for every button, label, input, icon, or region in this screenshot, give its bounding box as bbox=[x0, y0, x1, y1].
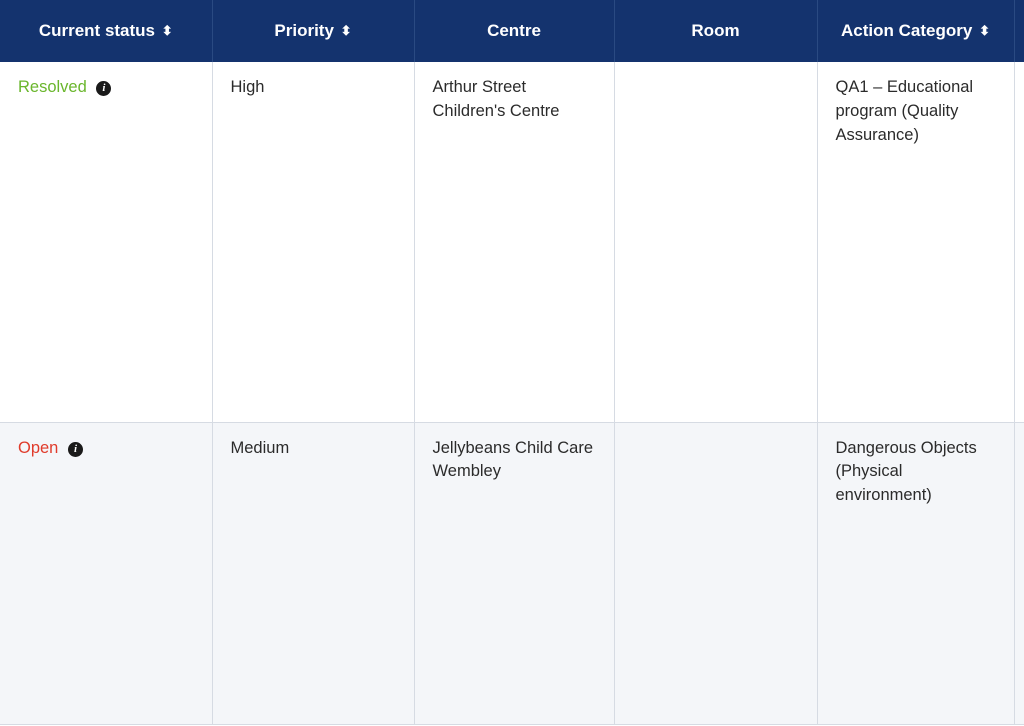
info-icon[interactable]: i bbox=[96, 81, 111, 96]
table-header-row: Current status ⬍ Priority ⬍ Centre Room … bbox=[0, 0, 1024, 62]
cell-current-status: Open i bbox=[0, 422, 212, 724]
status-badge: Resolved bbox=[18, 78, 87, 96]
cell-priority: Medium bbox=[212, 422, 414, 724]
cell-action-category: QA1 – Educational program (Quality Assur… bbox=[817, 62, 1014, 422]
sort-toggle-icon[interactable]: ⬍ bbox=[979, 24, 990, 37]
table-row[interactable]: Open i Medium Jellybeans Child Care Wemb… bbox=[0, 422, 1024, 724]
column-header-current-status[interactable]: Current status ⬍ bbox=[0, 0, 212, 62]
cell-action-category: Dangerous Objects (Physical environment) bbox=[817, 422, 1014, 724]
column-header-priority[interactable]: Priority ⬍ bbox=[212, 0, 414, 62]
cell-room bbox=[614, 62, 817, 422]
priority-value: High bbox=[231, 76, 398, 100]
incidents-table-container: Current status ⬍ Priority ⬍ Centre Room … bbox=[0, 0, 1024, 726]
action-category-value: QA1 – Educational program (Quality Assur… bbox=[836, 76, 998, 148]
sort-toggle-icon[interactable]: ⬍ bbox=[341, 24, 352, 37]
action-category-value: Dangerous Objects (Physical environment) bbox=[836, 437, 998, 509]
column-header-label-priority: Priority bbox=[274, 21, 334, 40]
table-row[interactable]: Resolved i High Arthur Street Children's… bbox=[0, 62, 1024, 422]
status-badge: Open bbox=[18, 439, 58, 457]
cell-centre: Arthur Street Children's Centre bbox=[414, 62, 614, 422]
priority-value: Medium bbox=[231, 437, 398, 461]
centre-value: Arthur Street Children's Centre bbox=[433, 76, 598, 124]
cell-centre: Jellybeans Child Care Wembley bbox=[414, 422, 614, 724]
cell-spacer bbox=[1014, 62, 1024, 422]
sort-toggle-icon[interactable]: ⬍ bbox=[162, 24, 173, 37]
cell-priority: High bbox=[212, 62, 414, 422]
column-header-label-room: Room bbox=[691, 21, 739, 40]
column-header-room[interactable]: Room bbox=[614, 0, 817, 62]
column-header-label-action-category: Action Category bbox=[841, 21, 972, 40]
column-header-spacer bbox=[1014, 0, 1024, 62]
cell-spacer bbox=[1014, 422, 1024, 724]
cell-room bbox=[614, 422, 817, 724]
column-header-label-centre: Centre bbox=[487, 21, 541, 40]
centre-value: Jellybeans Child Care Wembley bbox=[433, 437, 598, 485]
info-icon[interactable]: i bbox=[68, 442, 83, 457]
column-header-action-category[interactable]: Action Category ⬍ bbox=[817, 0, 1014, 62]
cell-current-status: Resolved i bbox=[0, 62, 212, 422]
column-header-label-current-status: Current status bbox=[39, 21, 155, 40]
column-header-centre[interactable]: Centre bbox=[414, 0, 614, 62]
incidents-table: Current status ⬍ Priority ⬍ Centre Room … bbox=[0, 0, 1024, 725]
